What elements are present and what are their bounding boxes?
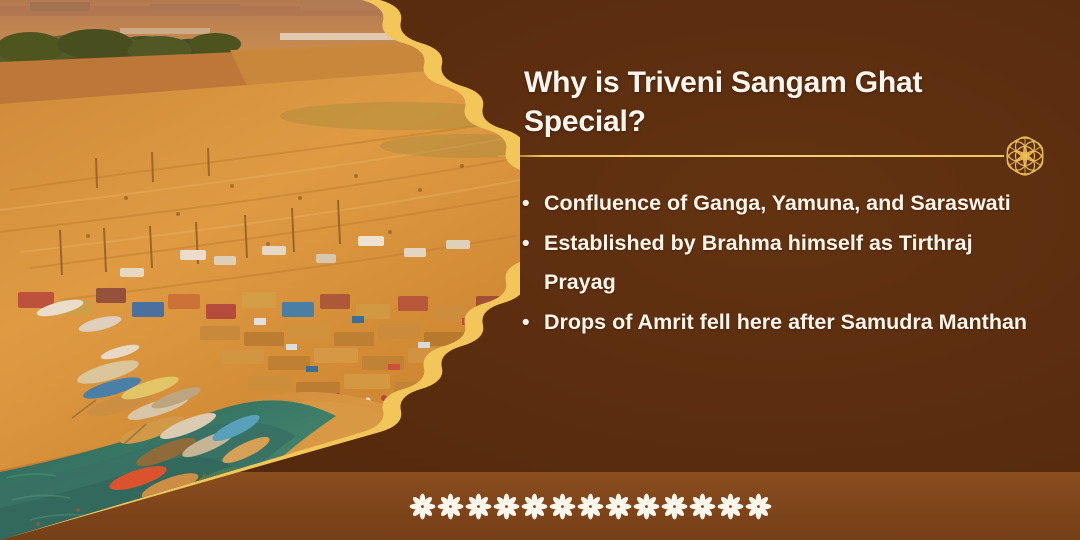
flower-ornament-icon bbox=[465, 493, 492, 520]
gold-divider bbox=[498, 155, 1004, 157]
flower-ornament-icon bbox=[605, 493, 632, 520]
hero-photo bbox=[0, 0, 520, 540]
list-item: • Established by Brahma himself as Tirth… bbox=[518, 224, 1046, 301]
flower-ornament-icon bbox=[745, 493, 772, 520]
flower-ornament-icon bbox=[577, 493, 604, 520]
list-item-label: Confluence of Ganga, Yamuna, and Saraswa… bbox=[544, 191, 1011, 215]
flower-ornament-strip bbox=[0, 472, 1080, 540]
list-item-label: Established by Brahma himself as Tirthra… bbox=[544, 231, 973, 293]
feature-bullet-list: • Confluence of Ganga, Yamuna, and Saras… bbox=[518, 184, 1046, 343]
rosette-ornament-icon bbox=[1000, 131, 1050, 181]
flower-ornament-icon bbox=[521, 493, 548, 520]
flower-ornament-icon bbox=[661, 493, 688, 520]
flower-ornament-icon bbox=[549, 493, 576, 520]
flower-ornament-icon bbox=[717, 493, 744, 520]
hero-photo-svg bbox=[0, 0, 520, 540]
bullet-marker-icon: • bbox=[522, 303, 530, 341]
page-title: Why is Triveni Sangam Ghat Special? bbox=[524, 64, 994, 141]
flower-ornament-icon bbox=[409, 493, 436, 520]
list-item: • Confluence of Ganga, Yamuna, and Saras… bbox=[518, 184, 1046, 222]
flower-ornament-icon bbox=[493, 493, 520, 520]
flower-ornament-icon bbox=[437, 493, 464, 520]
list-item-label: Drops of Amrit fell here after Samudra M… bbox=[544, 310, 1027, 334]
flower-ornament-icon bbox=[633, 493, 660, 520]
bullet-marker-icon: • bbox=[522, 184, 530, 222]
poster-canvas: Why is Triveni Sangam Ghat Special? • Co… bbox=[0, 0, 1080, 540]
list-item: • Drops of Amrit fell here after Samudra… bbox=[518, 303, 1046, 341]
flower-ornament-icon bbox=[689, 493, 716, 520]
bullet-marker-icon: • bbox=[522, 224, 530, 262]
